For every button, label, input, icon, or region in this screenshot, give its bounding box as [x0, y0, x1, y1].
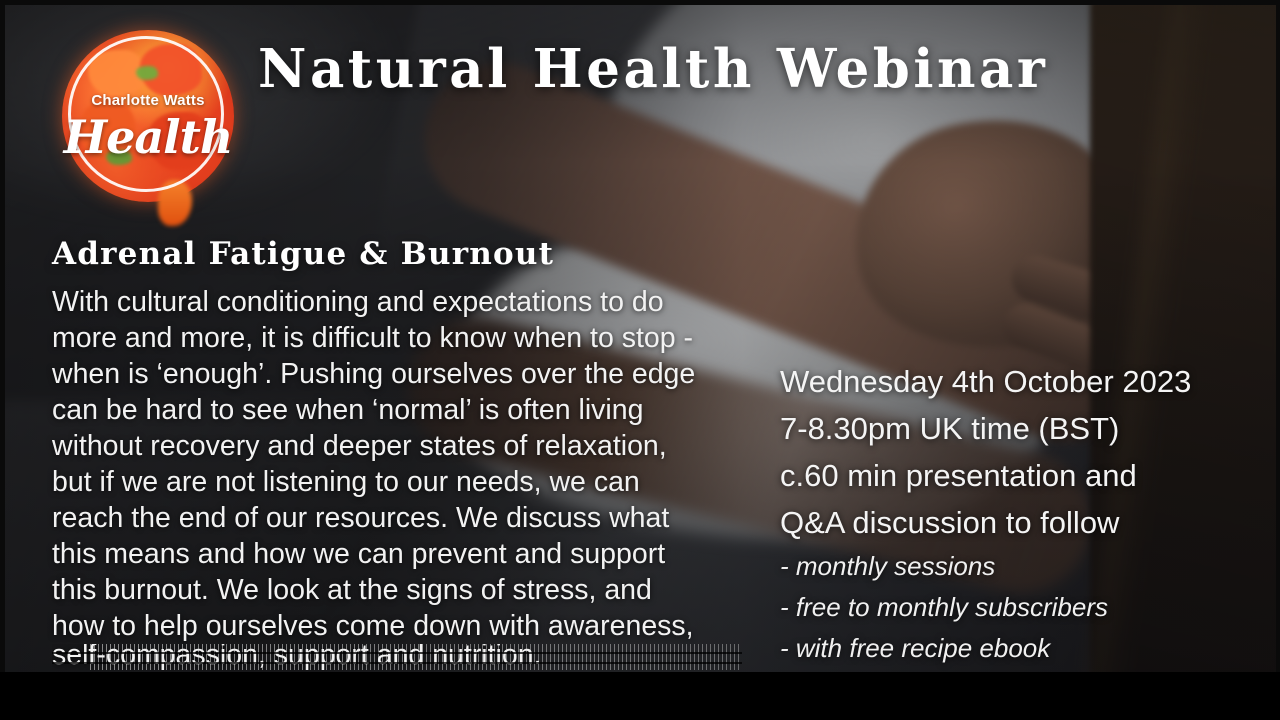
description-line: how to help ourselves come down with awa…	[52, 608, 742, 644]
webinar-slide: Charlotte Watts Health Natural Health We…	[0, 0, 1280, 720]
letterbox-right	[1276, 0, 1280, 676]
detail-line-time: 7-8.30pm UK time (BST)	[780, 405, 1260, 452]
description-line-clipped: self-compassion, support and nutrition.	[52, 644, 742, 670]
description-line: more and more, it is difficult to know w…	[52, 320, 742, 356]
description-line: without recovery and deeper states of re…	[52, 428, 742, 464]
logo-brand-name: Charlotte Watts	[62, 92, 234, 109]
session-details-block: Wednesday 4th October 2023 7-8.30pm UK t…	[780, 358, 1260, 669]
charlotte-watts-health-logo: Charlotte Watts Health	[62, 30, 234, 202]
detail-line-date: Wednesday 4th October 2023	[780, 358, 1260, 405]
description-line: reach the end of our resources. We discu…	[52, 500, 742, 536]
webinar-topic-heading: Adrenal Fatigue & Burnout	[52, 236, 554, 272]
description-line: this means and how we can prevent and su…	[52, 536, 742, 572]
detail-bullet: - monthly sessions	[780, 546, 1260, 587]
letterbox-top	[0, 0, 1280, 5]
description-line: when is ‘enough’. Pushing ourselves over…	[52, 356, 742, 392]
detail-line-duration: c.60 min presentation and	[780, 452, 1260, 499]
description-line: this burnout. We look at the signs of st…	[52, 572, 742, 608]
letterbox-bottom	[0, 672, 1280, 720]
description-line: but if we are not listening to our needs…	[52, 464, 742, 500]
letterbox-left	[0, 0, 5, 676]
description-line: can be hard to see when ‘normal’ is ofte…	[52, 392, 742, 428]
detail-line-qa: Q&A discussion to follow	[780, 499, 1260, 546]
description-block: With cultural conditioning and expectati…	[52, 284, 742, 670]
clip-scanline-artifact	[52, 644, 742, 670]
description-line: With cultural conditioning and expectati…	[52, 284, 742, 320]
logo-brand-word: Health	[62, 110, 234, 164]
detail-bullet: - free to monthly subscribers	[780, 587, 1260, 628]
page-title: Natural Health Webinar	[258, 38, 1048, 100]
detail-bullet: - with free recipe ebook	[780, 628, 1260, 669]
